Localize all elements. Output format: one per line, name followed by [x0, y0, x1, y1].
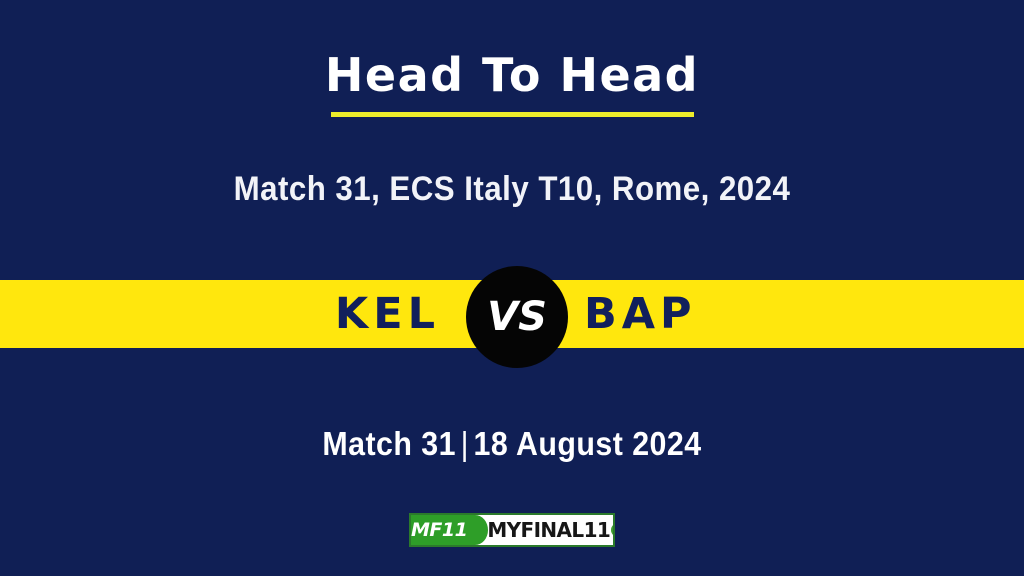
logo-badge-text: MF11	[411, 521, 467, 540]
page-title: Head To Head	[0, 52, 1024, 98]
logo-badge: MF11	[411, 515, 475, 545]
team-left-abbr: KEL	[132, 293, 512, 336]
myfinal11-logo[interactable]: MF11 MYFINAL11	[409, 513, 615, 547]
title-underline	[331, 112, 694, 117]
match-date: 18 August 2024	[474, 425, 702, 462]
match-number: Match 31	[322, 425, 456, 462]
match-info-line: Match 31|18 August 2024	[41, 425, 983, 463]
head-to-head-banner: Head To Head Match 31, ECS Italy T10, Ro…	[0, 0, 1024, 576]
matchup-row: KEL VS BAP	[0, 280, 1024, 348]
logo-brand-text: MYFINAL11	[475, 515, 610, 545]
match-info-separator: |	[456, 425, 474, 462]
match-subtitle: Match 31, ECS Italy T10, Rome, 2024	[41, 170, 983, 209]
cricket-ball-icon	[610, 515, 615, 545]
title-block: Head To Head	[0, 52, 1024, 117]
vs-label: VS	[487, 297, 547, 337]
team-right-abbr: BAP	[512, 293, 892, 336]
vs-circle: VS	[466, 266, 568, 368]
